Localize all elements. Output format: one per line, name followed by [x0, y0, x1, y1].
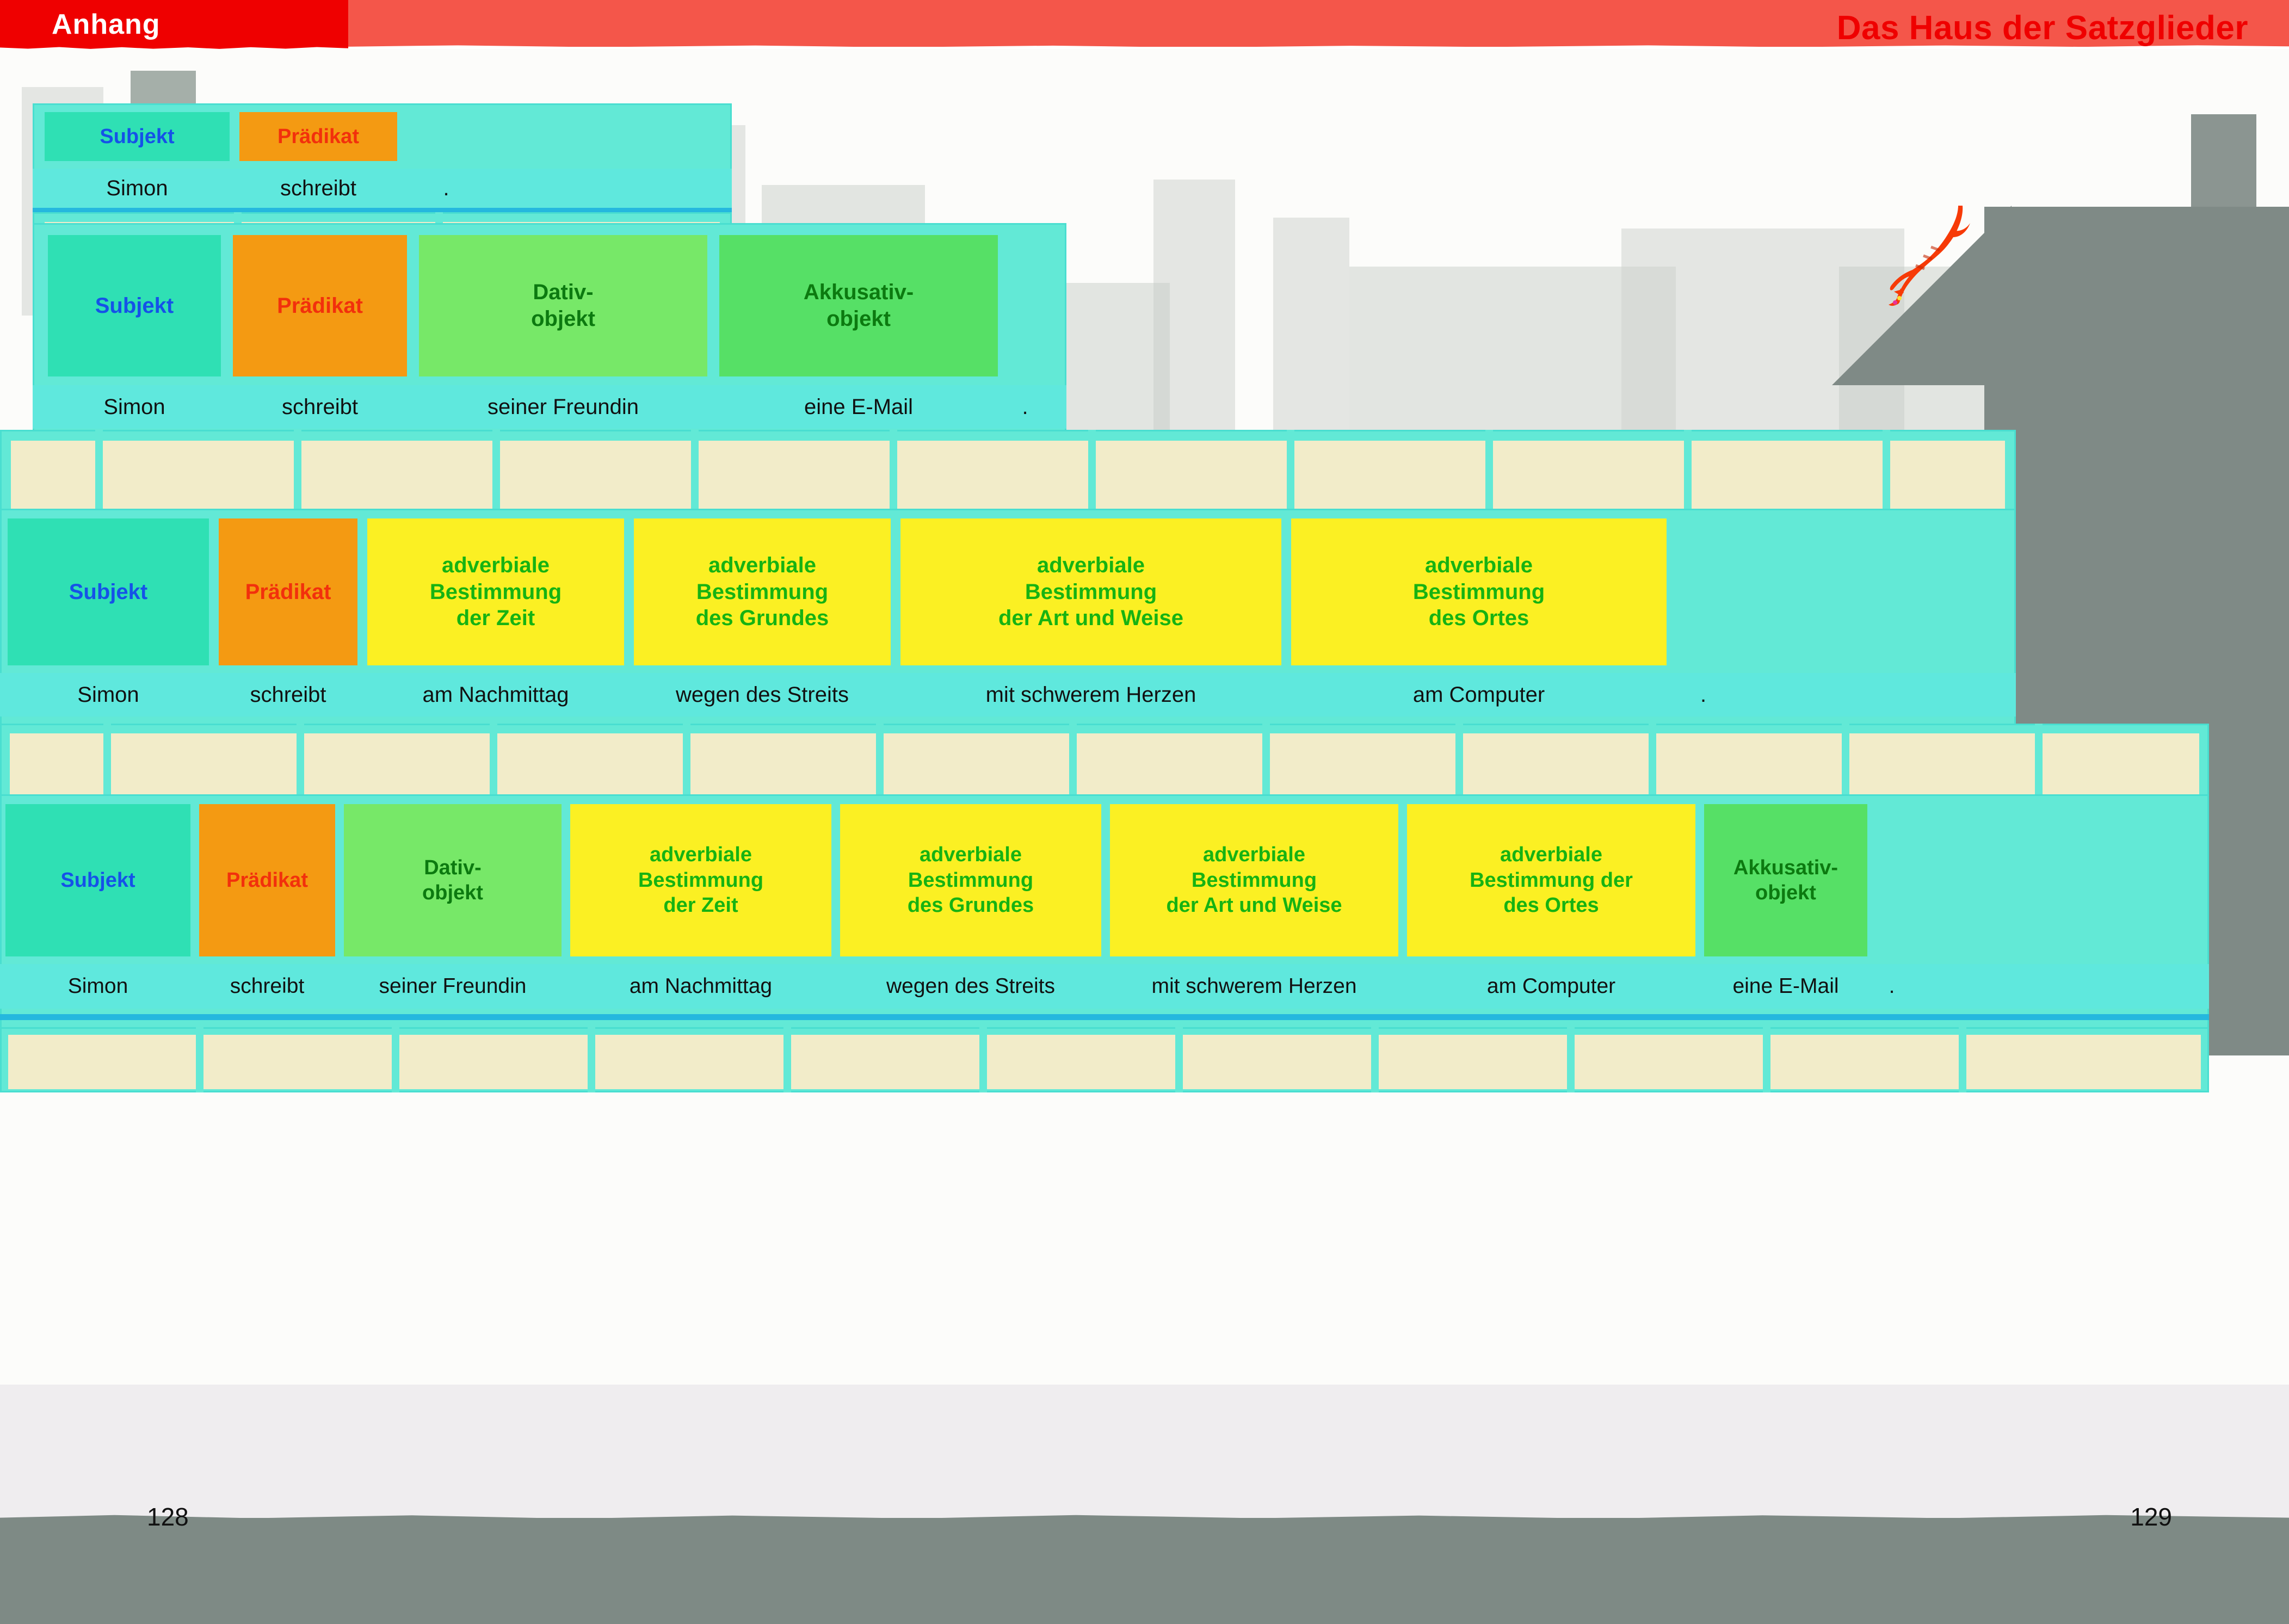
row-sentence: Simon schreibt seiner Freundin am Nachmi… [0, 964, 2209, 1009]
sentence-word: mit schwerem Herzen [1110, 964, 1398, 1009]
box-akkusativobjekt[interactable]: Akkusativ- objekt [1704, 804, 1867, 956]
row-boxes: Subjekt Prädikat Dativ- objekt adverbial… [0, 804, 2220, 956]
sentence-word: mit schwerem Herzen [900, 673, 1281, 717]
box-subjekt[interactable]: Subjekt [8, 518, 209, 665]
box-label: Akkusativ- objekt [804, 279, 914, 332]
brick-seam [783, 1027, 791, 1092]
box-adverbiale-grund[interactable]: adverbiale Bestimmung des Grundes [840, 804, 1101, 956]
sentence-period: . [1867, 964, 1916, 1009]
brick-course [0, 1027, 2209, 1092]
brick [11, 441, 2005, 509]
page-number-right: 129 [2130, 1502, 2172, 1532]
box-label: adverbiale Bestimmung der Art und Weise [1166, 842, 1342, 918]
page-header: Anhang Das Haus der Satzglieder [0, 0, 2289, 49]
row-sentence: Simon schreibt am Nachmittag wegen des S… [0, 673, 2016, 717]
row-boxes: Subjekt Prädikat [33, 112, 756, 161]
sentence-row-3: Subjekt Prädikat adverbiale Bestimmung d… [0, 509, 2016, 732]
brick [10, 733, 2199, 798]
row-boxes: Subjekt Prädikat Dativ- objekt Akkusativ… [33, 235, 1097, 376]
box-subjekt[interactable]: Subjekt [45, 112, 230, 161]
box-praedikat[interactable]: Prädikat [219, 518, 357, 665]
sentence-row-4: Subjekt Prädikat Dativ- objekt adverbial… [0, 794, 2209, 1034]
sentence-word: am Nachmittag [367, 673, 624, 717]
box-label: Prädikat [277, 124, 359, 149]
page-title: Das Haus der Satzglieder [1837, 9, 2248, 47]
row-sentence: Simon schreibt seiner Freundin eine E-Ma… [33, 385, 1066, 429]
box-adverbiale-zeit[interactable]: adverbiale Bestimmung der Zeit [367, 518, 624, 665]
brick-seam [1371, 1027, 1379, 1092]
sentence-word: schreibt [233, 385, 407, 429]
sentence-word: wegen des Streits [634, 673, 891, 717]
box-label: Subjekt [100, 124, 174, 149]
box-label: adverbiale Bestimmung des Ortes [1413, 552, 1545, 632]
sentence-row-1: Subjekt Prädikat Simon schreibt . [33, 103, 732, 212]
sentence-word: Simon [48, 385, 221, 429]
box-label: Prädikat [245, 579, 331, 606]
box-label: Dativ- objekt [531, 279, 595, 332]
sentence-word: schreibt [199, 964, 335, 1009]
box-label: adverbiale Bestimmung des Grundes [908, 842, 1034, 918]
box-dativobjekt[interactable]: Dativ- objekt [419, 235, 707, 376]
sentence-word: seiner Freundin [419, 385, 707, 429]
box-praedikat[interactable]: Prädikat [199, 804, 335, 956]
brick-seam [979, 1027, 987, 1092]
foreground-ground [0, 1518, 2289, 1624]
brick-seam [1959, 1027, 1966, 1092]
brick-seam [196, 1027, 203, 1092]
box-subjekt[interactable]: Subjekt [5, 804, 190, 956]
box-label: Subjekt [60, 868, 135, 893]
box-adverbiale-ort[interactable]: adverbiale Bestimmung der des Ortes [1407, 804, 1695, 956]
box-label: adverbiale Bestimmung der Zeit [430, 552, 562, 632]
box-label: Prädikat [277, 293, 363, 319]
box-label: Subjekt [69, 579, 147, 606]
box-label: Akkusativ- objekt [1733, 855, 1838, 906]
sentence-period: . [1667, 673, 1740, 717]
sentence-word: seiner Freundin [344, 964, 562, 1009]
pavement [0, 1385, 2289, 1518]
box-praedikat[interactable]: Prädikat [239, 112, 397, 161]
sentence-word: schreibt [219, 673, 357, 717]
brick-seam [1763, 1027, 1770, 1092]
box-label: Subjekt [95, 293, 174, 319]
page-number-left: 128 [147, 1502, 189, 1532]
sentence-word: schreibt [239, 169, 397, 208]
row-baseline [0, 1014, 2209, 1020]
brick-seam [1567, 1027, 1575, 1092]
sentence-word: wegen des Streits [840, 964, 1101, 1009]
sentence-period: . [397, 169, 495, 208]
section-tab-label: Anhang [52, 8, 161, 41]
box-adverbiale-ort[interactable]: adverbiale Bestimmung des Ortes [1291, 518, 1667, 665]
box-adverbiale-art-und-weise[interactable]: adverbiale Bestimmung der Art und Weise [900, 518, 1281, 665]
box-label: adverbiale Bestimmung der Art und Weise [998, 552, 1183, 632]
box-adverbiale-zeit[interactable]: adverbiale Bestimmung der Zeit [570, 804, 831, 956]
sentence-word: am Nachmittag [570, 964, 831, 1009]
sentence-period: . [998, 385, 1052, 429]
illustration-scene: Subjekt Prädikat Simon schreibt . [0, 49, 2289, 1624]
brick-seam [588, 1027, 595, 1092]
box-label: Prädikat [226, 868, 308, 893]
section-tab: Anhang [0, 0, 348, 49]
box-adverbiale-grund[interactable]: adverbiale Bestimmung des Grundes [634, 518, 891, 665]
brick-seam [392, 1027, 399, 1092]
sentence-word: Simon [45, 169, 230, 208]
row-sentence: Simon schreibt . [33, 169, 732, 208]
sentence-word: am Computer [1291, 673, 1667, 717]
cat-icon [1881, 201, 1973, 310]
box-label: adverbiale Bestimmung der Zeit [638, 842, 763, 918]
box-subjekt[interactable]: Subjekt [48, 235, 221, 376]
sentence-word: am Computer [1407, 964, 1695, 1009]
chimney-icon [2191, 114, 2256, 218]
box-praedikat[interactable]: Prädikat [233, 235, 407, 376]
brick [8, 1035, 2201, 1089]
sentence-word: Simon [8, 673, 209, 717]
box-adverbiale-art-und-weise[interactable]: adverbiale Bestimmung der Art und Weise [1110, 804, 1398, 956]
box-label: adverbiale Bestimmung des Grundes [696, 552, 829, 632]
sentence-row-2: Subjekt Prädikat Dativ- objekt Akkusativ… [33, 223, 1066, 441]
brick-seam [1175, 1027, 1183, 1092]
box-label: Dativ- objekt [422, 855, 483, 906]
sentence-word: Simon [5, 964, 190, 1009]
box-label: adverbiale Bestimmung der des Ortes [1470, 842, 1633, 918]
sentence-word: eine E-Mail [719, 385, 998, 429]
row-boxes: Subjekt Prädikat adverbiale Bestimmung d… [0, 518, 2031, 665]
box-dativobjekt[interactable]: Dativ- objekt [344, 804, 562, 956]
box-akkusativobjekt[interactable]: Akkusativ- objekt [719, 235, 998, 376]
sentence-word: eine E-Mail [1704, 964, 1867, 1009]
